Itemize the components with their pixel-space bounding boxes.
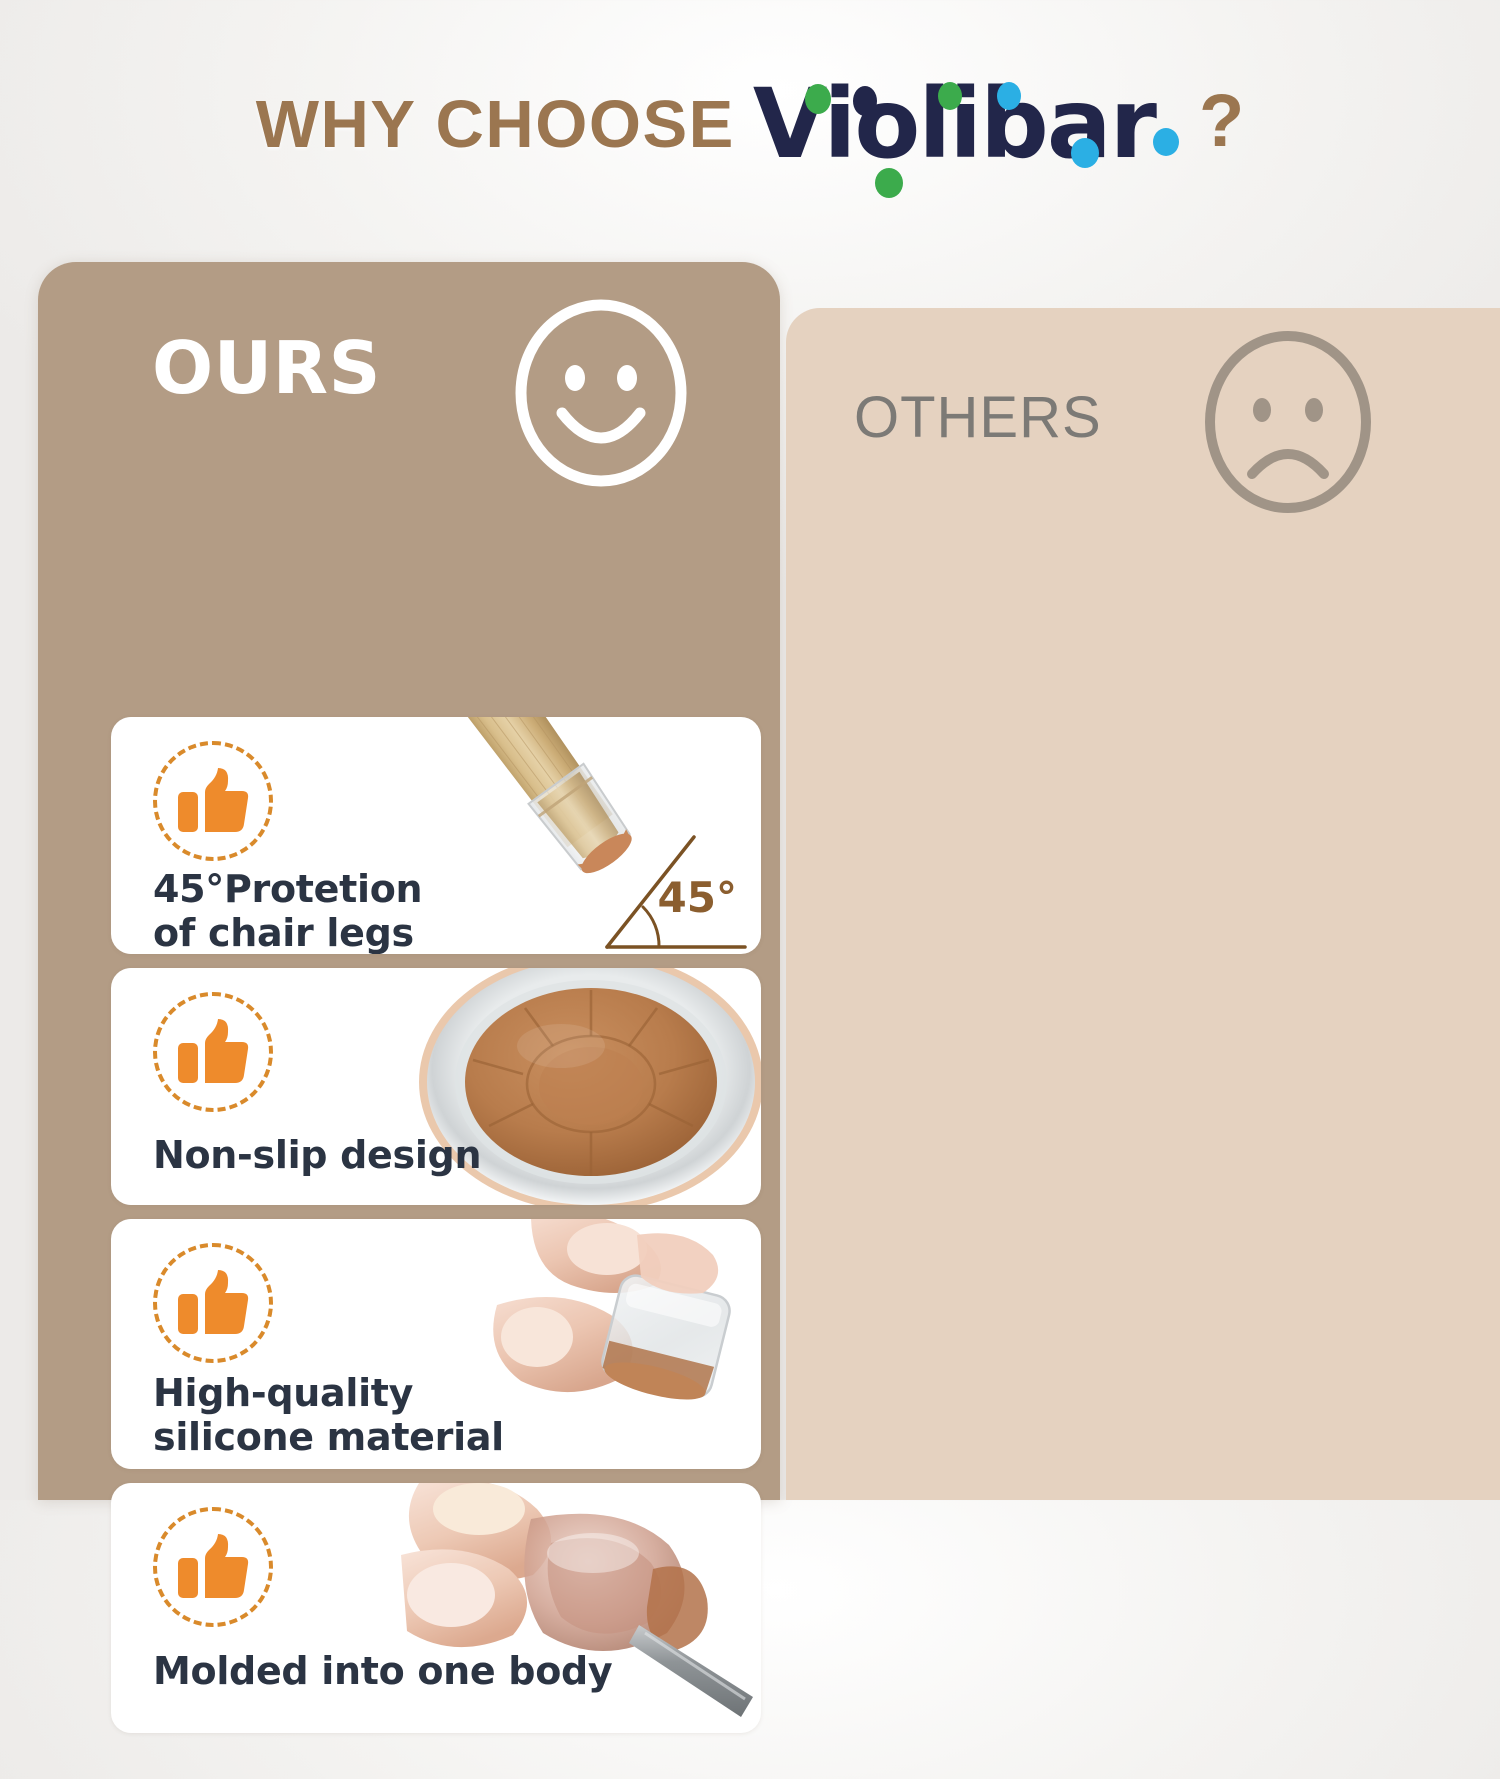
others-title: OTHERS: [854, 384, 1102, 451]
logo-dot-navy-i: [853, 86, 877, 116]
label-line: Non-slip design: [153, 1133, 481, 1177]
logo-dot-blue-i: [997, 82, 1021, 110]
sad-face-icon: [1198, 326, 1378, 516]
ours-feature-card[interactable]: 45° 45°Protetion of chair legs: [111, 717, 761, 954]
label-line: of chair legs: [153, 911, 422, 954]
label-line: Molded into one body: [153, 1649, 612, 1693]
logo-dot-blue-r: [1153, 128, 1179, 156]
logo-dot-green-l: [938, 82, 962, 110]
ours-feature-card[interactable]: Non-slip design: [111, 968, 761, 1205]
headline-question-mark: ?: [1199, 84, 1244, 158]
page-header: WHY CHOOSE Violibar ?: [0, 0, 1500, 248]
logo-dot-green-v: [805, 84, 831, 114]
ours-card-label: Non-slip design: [153, 1133, 481, 1177]
brand-logo: Violibar: [753, 76, 1155, 172]
label-line: 45°Protetion: [153, 867, 422, 911]
others-panel-header: OTHERS: [816, 344, 1476, 494]
ours-panel: OURS: [38, 262, 780, 1500]
thumbs-up-icon: [153, 1507, 273, 1627]
ours-panel-header: OURS: [74, 302, 744, 452]
ours-feature-card[interactable]: High-quality silicone material: [111, 1219, 761, 1469]
others-panel: OTHERS: [786, 308, 1500, 1500]
label-line: silicone material: [153, 1415, 504, 1459]
label-line: High-quality: [153, 1371, 504, 1415]
thumbs-up-icon: [153, 741, 273, 861]
ours-card-label: Molded into one body: [153, 1649, 612, 1693]
ours-feature-card[interactable]: Molded into one body: [111, 1483, 761, 1733]
headline-prefix: WHY CHOOSE: [256, 91, 735, 158]
thumbs-up-icon: [153, 1243, 273, 1363]
smiley-face-icon: [509, 298, 694, 488]
ours-card-label: 45°Protetion of chair legs: [153, 867, 422, 954]
hand-pulling-cap-with-tool-image: [401, 1483, 761, 1733]
ours-card-label: High-quality silicone material: [153, 1371, 504, 1460]
logo-dot-green-o: [875, 168, 903, 198]
ours-title: OURS: [152, 326, 381, 410]
thumbs-up-icon: [153, 992, 273, 1112]
logo-dot-blue-a: [1071, 138, 1099, 168]
angle-annotation: 45°: [658, 873, 737, 922]
